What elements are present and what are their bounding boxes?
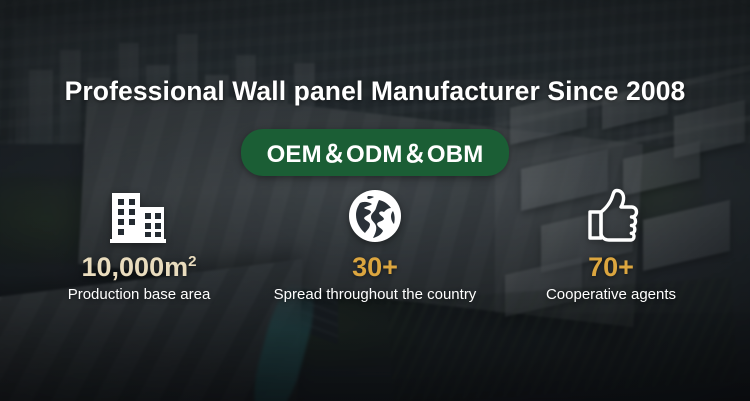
stat-value: 70+ [493, 253, 729, 282]
thumbs-up-icon [493, 185, 729, 247]
stat-value: 10,000m2 [21, 253, 257, 282]
headline: Professional Wall panel Manufacturer Sin… [0, 76, 750, 107]
badge-container: OEM＆ODM＆OBM [0, 129, 750, 176]
banner-content: Professional Wall panel Manufacturer Sin… [0, 0, 750, 401]
stat-spread-throughout-country: 30+ Spread throughout the country [257, 185, 493, 305]
globe-icon [257, 185, 493, 247]
office-building-icon [21, 185, 257, 247]
stat-value-number: 10,000m [82, 252, 189, 282]
stat-value: 30+ [257, 253, 493, 282]
stat-label: Spread throughout the country [257, 286, 493, 305]
stat-cooperative-agents: 70+ Cooperative agents [493, 185, 729, 305]
stats-row: 10,000m2 Production base area [0, 185, 750, 305]
stat-label: Cooperative agents [493, 286, 729, 305]
oem-odm-obm-badge: OEM＆ODM＆OBM [241, 129, 510, 176]
stat-production-base-area: 10,000m2 Production base area [21, 185, 257, 305]
promo-banner: Professional Wall panel Manufacturer Sin… [0, 0, 750, 401]
stat-label: Production base area [21, 286, 257, 305]
stat-value-superscript: 2 [188, 253, 196, 270]
